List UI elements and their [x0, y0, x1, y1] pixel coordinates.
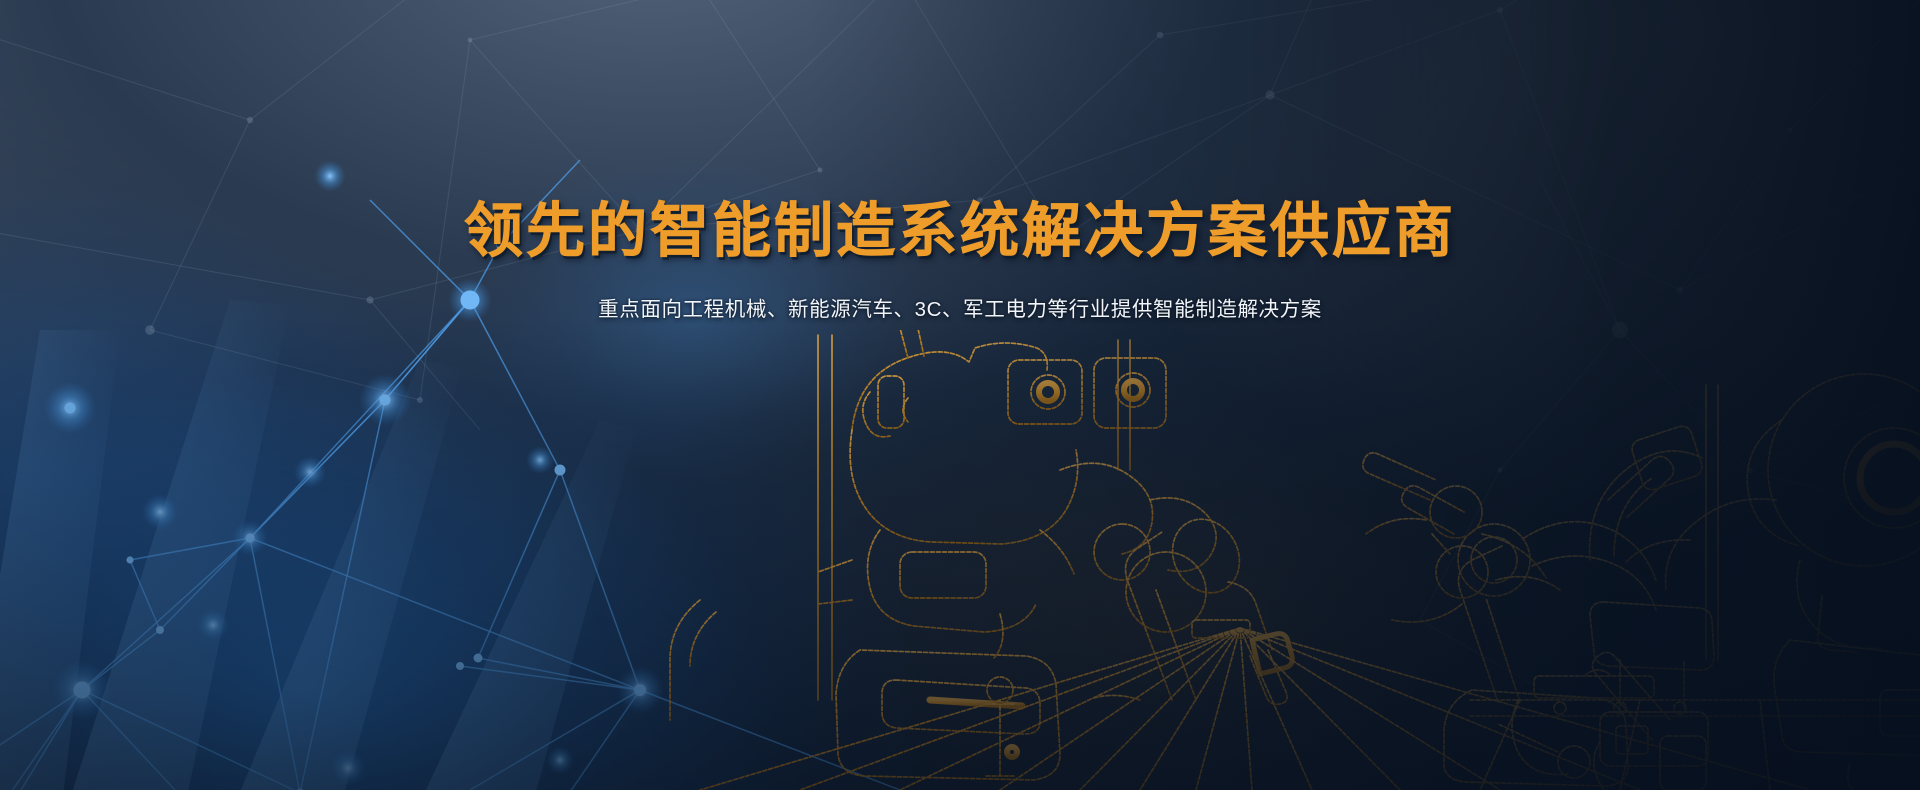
page-title: 领先的智能制造系统解决方案供应商 [0, 198, 1920, 264]
page-subtitle: 重点面向工程机械、新能源汽车、3C、军工电力等行业提供智能制造解决方案 [0, 296, 1920, 325]
hero-banner: 领先的智能制造系统解决方案供应商 重点面向工程机械、新能源汽车、3C、军工电力等… [0, 0, 1920, 790]
background-bottom-veil [0, 0, 1920, 790]
hero-copy-block: 领先的智能制造系统解决方案供应商 重点面向工程机械、新能源汽车、3C、军工电力等… [0, 198, 1920, 325]
